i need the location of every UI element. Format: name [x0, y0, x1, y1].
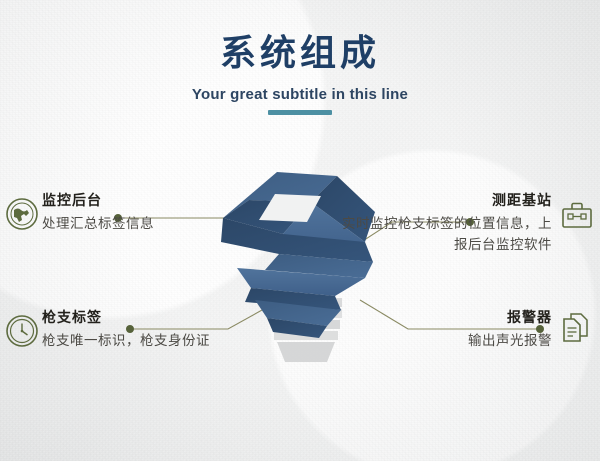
callout-heading-station: 测距基站 [337, 190, 552, 210]
callout-tag: 枪支标签 枪支唯一标识，枪支身份证 [42, 307, 227, 352]
callout-monitor: 监控后台 处理汇总标签信息 [42, 190, 242, 235]
slide-canvas: 系统组成 Your great subtitle in this line [0, 0, 600, 461]
callout-heading-monitor: 监控后台 [42, 190, 242, 210]
callout-body-tag: 枪支唯一标识，枪支身份证 [42, 331, 227, 352]
globe-icon [5, 197, 39, 231]
briefcase-icon [560, 198, 594, 232]
callout-heading-alarm: 报警器 [352, 307, 552, 327]
callout-body-station: 实时监控枪支标签的位置信息，上报后台监控软件 [337, 214, 552, 256]
subtitle-underline [268, 110, 332, 115]
callout-station: 测距基站 实时监控枪支标签的位置信息，上报后台监控软件 [337, 190, 552, 256]
callout-body-alarm: 输出声光报警 [352, 331, 552, 352]
clock-icon [5, 314, 39, 348]
page-title: 系统组成 [0, 0, 600, 74]
documents-icon [558, 310, 592, 344]
page-subtitle: Your great subtitle in this line [0, 74, 600, 103]
callout-heading-tag: 枪支标签 [42, 307, 227, 327]
callout-alarm: 报警器 输出声光报警 [352, 307, 552, 352]
slide-header: 系统组成 Your great subtitle in this line [0, 0, 600, 115]
callout-body-monitor: 处理汇总标签信息 [42, 214, 242, 235]
